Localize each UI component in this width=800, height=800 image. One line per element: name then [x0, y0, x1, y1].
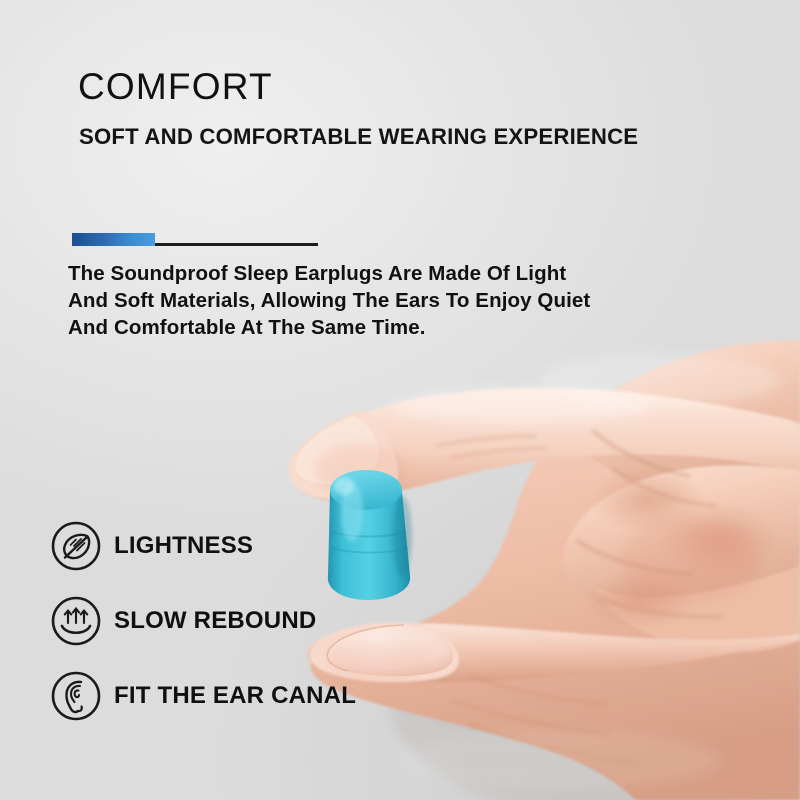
product-banner: COMFORT SOFT AND COMFORTABLE WEARING EXP… [0, 0, 800, 800]
page-subtitle: SOFT AND COMFORTABLE WEARING EXPERIENCE [79, 124, 638, 150]
divider-gradient-bar [72, 233, 155, 246]
section-divider [72, 233, 318, 247]
feature-label-lightness: LIGHTNESS [114, 532, 253, 560]
description-line-2: And Soft Materials, Allowing The Ears To… [68, 287, 668, 314]
feature-item-slow-rebound: SLOW REBOUND [50, 593, 356, 649]
feature-label-slow-rebound: SLOW REBOUND [114, 607, 316, 635]
description-paragraph: The Soundproof Sleep Earplugs Are Made O… [68, 260, 668, 341]
feature-label-fit-ear-canal: FIT THE EAR CANAL [114, 682, 356, 710]
description-line-3: And Comfortable At The Same Time. [68, 314, 668, 341]
feature-list: LIGHTNESS [50, 518, 356, 743]
description-line-1: The Soundproof Sleep Earplugs Are Made O… [68, 260, 668, 287]
ear-icon [50, 670, 102, 722]
divider-rule [155, 243, 318, 246]
page-title: COMFORT [78, 66, 273, 108]
rebound-arrows-icon [50, 595, 102, 647]
feature-item-fit-ear-canal: FIT THE EAR CANAL [50, 668, 356, 724]
feature-item-lightness: LIGHTNESS [50, 518, 356, 574]
feather-icon [50, 520, 102, 572]
